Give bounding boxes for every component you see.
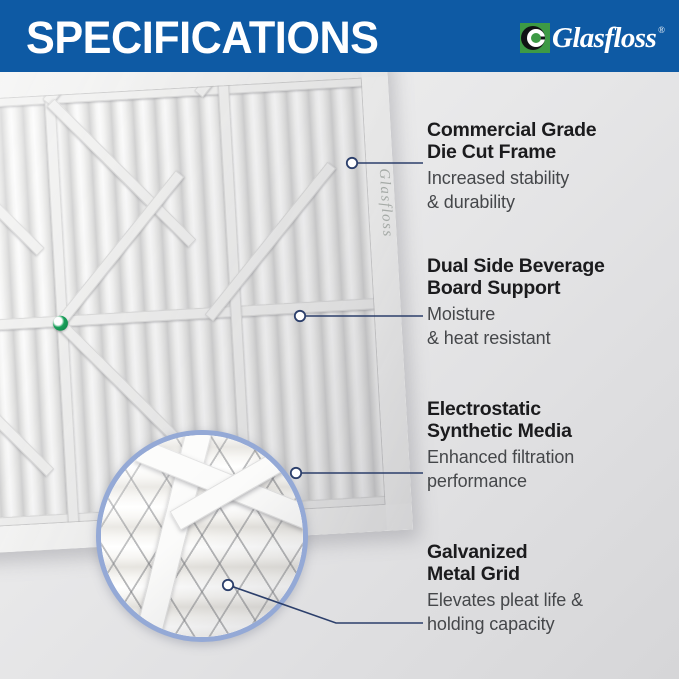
magnified-media-inner (101, 435, 303, 637)
callout-sub-line-1: Enhanced filtration (427, 445, 679, 469)
callout-sub-line-1: Increased stability (427, 166, 679, 190)
callout-title-line-2: Metal Grid (427, 563, 679, 585)
callout-title: Dual Side Beverage Board Support (427, 255, 679, 299)
callout-commercial-grade-die-cut-frame: Commercial Grade Die Cut Frame Increased… (427, 119, 679, 214)
callout-subtitle: Elevates pleat life & holding capacity (427, 588, 679, 636)
callout-subtitle: Enhanced filtration performance (427, 445, 679, 493)
magnified-media-inset (96, 430, 308, 642)
callout-sub-line-2: & heat resistant (427, 326, 679, 350)
callout-subtitle: Moisture & heat resistant (427, 302, 679, 350)
callout-title-line-2: Board Support (427, 277, 679, 299)
callout-sub-line-2: & durability (427, 190, 679, 214)
callout-sub-line-1: Elevates pleat life & (427, 588, 679, 612)
registered-trademark-icon: ® (658, 25, 665, 35)
glasfloss-wordmark: Glasfloss (552, 24, 656, 53)
callout-subtitle: Increased stability & durability (427, 166, 679, 214)
header-bar: SPECIFICATIONS Glasfloss ® (0, 0, 679, 72)
callout-galvanized-metal-grid: Galvanized Metal Grid Elevates pleat lif… (427, 541, 679, 636)
callout-title: Electrostatic Synthetic Media (427, 398, 679, 442)
callout-electrostatic-synthetic-media: Electrostatic Synthetic Media Enhanced f… (427, 398, 679, 493)
callout-title: Commercial Grade Die Cut Frame (427, 119, 679, 163)
callout-sub-line-2: holding capacity (427, 612, 679, 636)
callout-dual-side-beverage-board-support: Dual Side Beverage Board Support Moistur… (427, 255, 679, 350)
glasfloss-g-mark-icon (520, 23, 550, 53)
callout-title-line-1: Galvanized (427, 541, 679, 563)
magnified-lighting-overlay (101, 435, 303, 637)
callout-title: Galvanized Metal Grid (427, 541, 679, 585)
callout-title-line-1: Dual Side Beverage (427, 255, 679, 277)
callout-title-line-1: Commercial Grade (427, 119, 679, 141)
callout-title-line-2: Synthetic Media (427, 420, 679, 442)
callout-sub-line-2: performance (427, 469, 679, 493)
callout-sub-line-1: Moisture (427, 302, 679, 326)
page-title: SPECIFICATIONS (26, 12, 379, 64)
specifications-infographic: Glasfloss SPECIFICATIONS (0, 0, 679, 679)
glasfloss-logo[interactable]: Glasfloss ® (520, 21, 665, 55)
callout-title-line-2: Die Cut Frame (427, 141, 679, 163)
callout-title-line-1: Electrostatic (427, 398, 679, 420)
